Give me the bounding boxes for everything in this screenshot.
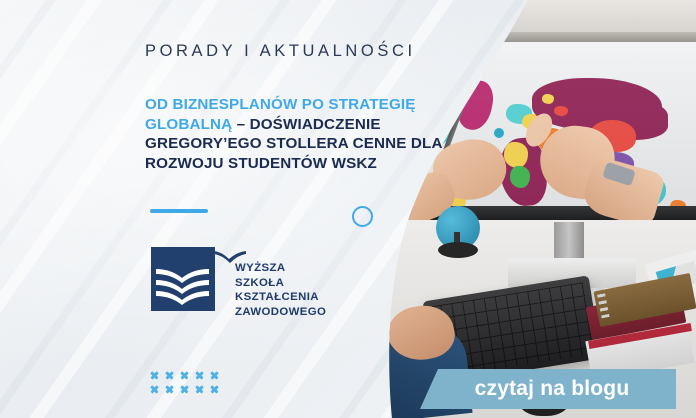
x-mark-icon (195, 385, 204, 394)
wskz-logo-text: WYŻSZA SZKOŁA KSZTAŁCENIA ZAWODOWEGO (235, 261, 326, 319)
x-mark-icon (180, 371, 189, 380)
x-mark-icon (165, 371, 174, 380)
accent-rule (150, 209, 208, 213)
x-mark-icon (165, 385, 174, 394)
read-on-blog-label: czytaj na blogu (467, 377, 630, 401)
x-mark-icon (180, 385, 189, 394)
blog-promo-banner: PORADY I AKTUALNOŚCI OD BIZNESPLANÓW PO … (0, 0, 696, 418)
banner-headline: OD BIZNESPLANÓW PO STRATEGIĘ GLOBALNĄ – … (145, 95, 475, 173)
x-mark-icon (150, 371, 159, 380)
logo-line-2: KSZTAŁCENIA (235, 290, 326, 305)
x-mark-icon (195, 371, 204, 380)
banner-kicker: PORADY I AKTUALNOŚCI (145, 42, 416, 61)
x-mark-icon (150, 385, 159, 394)
logo-line-1: WYŻSZA SZKOŁA (235, 261, 326, 290)
x-dot-pattern (150, 371, 219, 399)
read-on-blog-button[interactable]: czytaj na blogu (420, 369, 676, 409)
open-book-icon (151, 247, 215, 311)
logo-line-3: ZAWODOWEGO (235, 305, 326, 320)
circle-outline-icon (352, 206, 373, 227)
x-mark-icon (210, 371, 219, 380)
x-mark-icon (210, 385, 219, 394)
x-dot-row (150, 371, 219, 380)
x-dot-row (150, 385, 219, 394)
